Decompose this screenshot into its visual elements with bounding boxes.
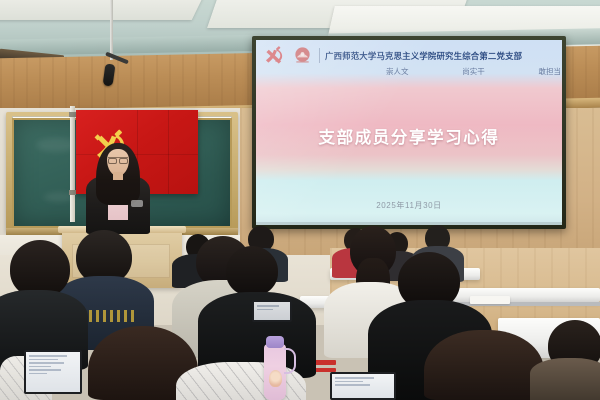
- glasses-icon: [108, 157, 128, 162]
- jacket-print: [82, 310, 138, 322]
- notebook-paper: [470, 296, 510, 304]
- projector-screen-bezel: 广西师范大学马克思主义学院研究生综合第二党支部 崇人文 尚实干 敢担当 支部成员…: [252, 36, 566, 229]
- classroom-photo: 广西师范大学马克思主义学院研究生综合第二党支部 崇人文 尚实干 敢担当 支部成员…: [0, 0, 600, 400]
- slide-subtitle-3: 敢担当: [539, 66, 562, 77]
- slide-main-title: 支部成员分享学习心得: [256, 124, 562, 148]
- slide-subtitle-2: 尚实干: [462, 66, 485, 77]
- laptop[interactable]: [252, 300, 292, 322]
- flag-pole: [70, 106, 75, 222]
- header-divider: [319, 48, 320, 63]
- bottle-strap: [284, 348, 296, 374]
- bottle-cartoon-sticker: [269, 370, 282, 387]
- laptop-text-lines: [29, 355, 77, 374]
- slide-header-subtitles: 崇人文 尚实干 敢担当: [386, 66, 561, 77]
- microphone-rod: [110, 0, 113, 60]
- laptop[interactable]: [24, 350, 82, 394]
- university-emblem-icon: [291, 46, 314, 65]
- slide-subtitle-1: 崇人文: [386, 66, 409, 77]
- slide-date: 2025年11月30日: [256, 200, 562, 211]
- screen-bottom-bar: [256, 222, 562, 225]
- speaker-neck: [113, 172, 123, 180]
- presentation-slide: 广西师范大学马克思主义学院研究生综合第二党支部 崇人文 尚实干 敢担当 支部成员…: [256, 40, 562, 225]
- bottle-cap[interactable]: [266, 336, 284, 348]
- flag-clip: [69, 112, 76, 117]
- laptop[interactable]: [330, 372, 396, 400]
- slide-header: 广西师范大学马克思主义学院研究生综合第二党支部: [256, 46, 562, 65]
- cpc-party-emblem-icon: [263, 46, 286, 65]
- ceiling-light-panel: [0, 0, 208, 20]
- laptop-text-lines: [257, 305, 287, 310]
- flag-clip: [69, 190, 76, 195]
- laptop-text-lines: [335, 377, 391, 386]
- jacket-logo-patch: [131, 200, 143, 207]
- slide-header-title: 广西师范大学马克思主义学院研究生综合第二党支部: [325, 50, 522, 62]
